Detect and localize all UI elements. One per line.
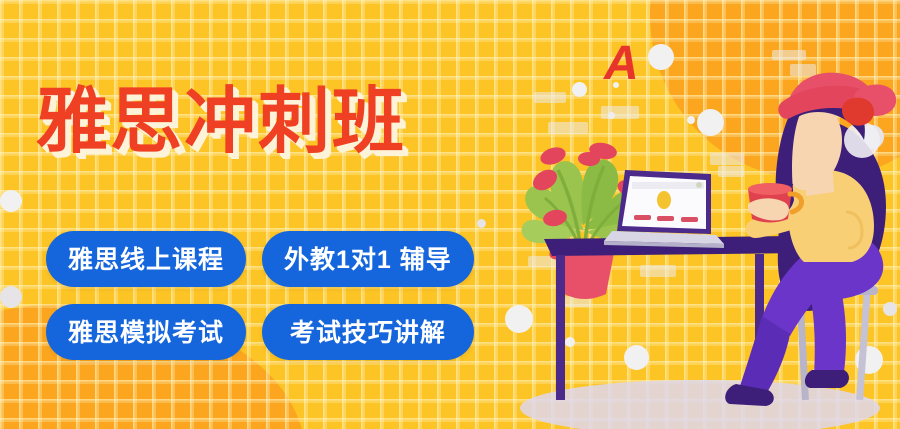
illustration-woman-at-desk (0, 0, 900, 429)
screen-highlight (657, 191, 671, 209)
page-title: 雅思冲刺班 (36, 86, 406, 158)
lower-leg-back (808, 278, 846, 374)
shoe-back (805, 370, 849, 388)
feature-pill-online-course[interactable]: 雅思线上课程 (46, 231, 246, 287)
feature-pill-list: 雅思线上课程 外教1对1 辅导 雅思模拟考试 考试技巧讲解 (46, 231, 474, 360)
promo-banner: A (0, 0, 900, 429)
feature-pill-mock-exam[interactable]: 雅思模拟考试 (46, 304, 246, 360)
feature-pill-one-on-one-tutoring[interactable]: 外教1对1 辅导 (262, 231, 474, 287)
hat-bow-knot (842, 98, 874, 126)
screen-dot (696, 182, 702, 188)
feature-pill-exam-skills[interactable]: 考试技巧讲解 (262, 304, 474, 360)
